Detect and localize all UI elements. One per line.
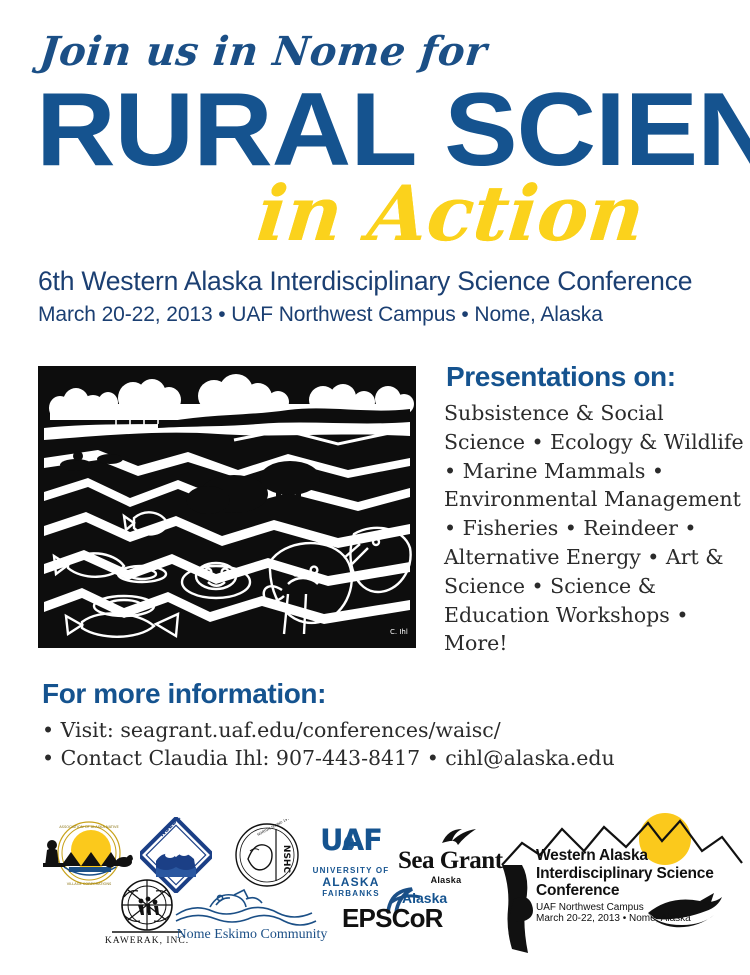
presentations-heading: Presentations on: — [446, 361, 676, 393]
artwork-illustration: C. Ihl — [38, 366, 416, 648]
logo-waisc-line5: March 20-22, 2013 • Nome, Alaska — [536, 913, 714, 925]
logo-nshc: NSHC NORTON SOUND 1970 — [228, 819, 306, 891]
sponsor-logo-strip: ASSOCIATION OF ALASKA NATIVE VILLAGE COR… — [0, 805, 750, 975]
page-title: RURAL SCIENCE — [36, 78, 750, 182]
conference-subtitle: 6th Western Alaska Interdisciplinary Sci… — [38, 266, 692, 297]
more-information-heading: For more information: — [42, 678, 326, 710]
logo-uaf: UAF UNIVERSITY OF ALASKA FAIRBANKS — [312, 823, 390, 889]
headline-script-top: Join us in Nome for — [38, 28, 490, 75]
logo-waisc-conference: Western Alaska Interdisciplinary Science… — [500, 807, 744, 957]
artwork-signature: C. Ihl — [390, 628, 408, 636]
conference-details: March 20-22, 2013 • UAF Northwest Campus… — [38, 303, 603, 327]
svg-text:ASSOCIATION OF ALASKA NATIVE: ASSOCIATION OF ALASKA NATIVE — [59, 825, 119, 829]
logo-nome-eskimo-community: Nome Eskimo Community — [172, 885, 332, 947]
contact-line[interactable]: • Contact Claudia Ihl: 907-443-8417 • ci… — [42, 744, 682, 772]
logo-epscor-name: EPSCoR — [342, 903, 443, 934]
logo-waisc-line1: Western Alaska — [536, 847, 714, 865]
logo-sea-grant: Sea Grant Alaska — [398, 825, 494, 885]
logo-epscor: Alaska EPSCoR — [340, 887, 464, 943]
logo-sea-grant-sub: Alaska — [398, 875, 494, 885]
logo-waisc-line3: Conference — [536, 882, 714, 900]
headline-script-bottom: in Action — [254, 176, 648, 252]
logo-nome-eskimo-name: Nome Eskimo Community — [172, 927, 332, 943]
website-line[interactable]: • Visit: seagrant.uaf.edu/conferences/wa… — [42, 716, 682, 744]
presentations-list: Subsistence & Social Science • Ecology &… — [444, 399, 744, 658]
svg-text:NSHC: NSHC — [281, 845, 291, 874]
logo-waisc-line4: UAF Northwest Campus — [536, 902, 714, 914]
logo-sea-grant-name: Sea Grant — [398, 847, 494, 875]
poster-canvas: Join us in Nome for RURAL SCIENCE in Act… — [0, 0, 750, 975]
logo-waisc-line2: Interdisciplinary Science — [536, 865, 714, 883]
more-information-lines: • Visit: seagrant.uaf.edu/conferences/wa… — [42, 716, 682, 772]
